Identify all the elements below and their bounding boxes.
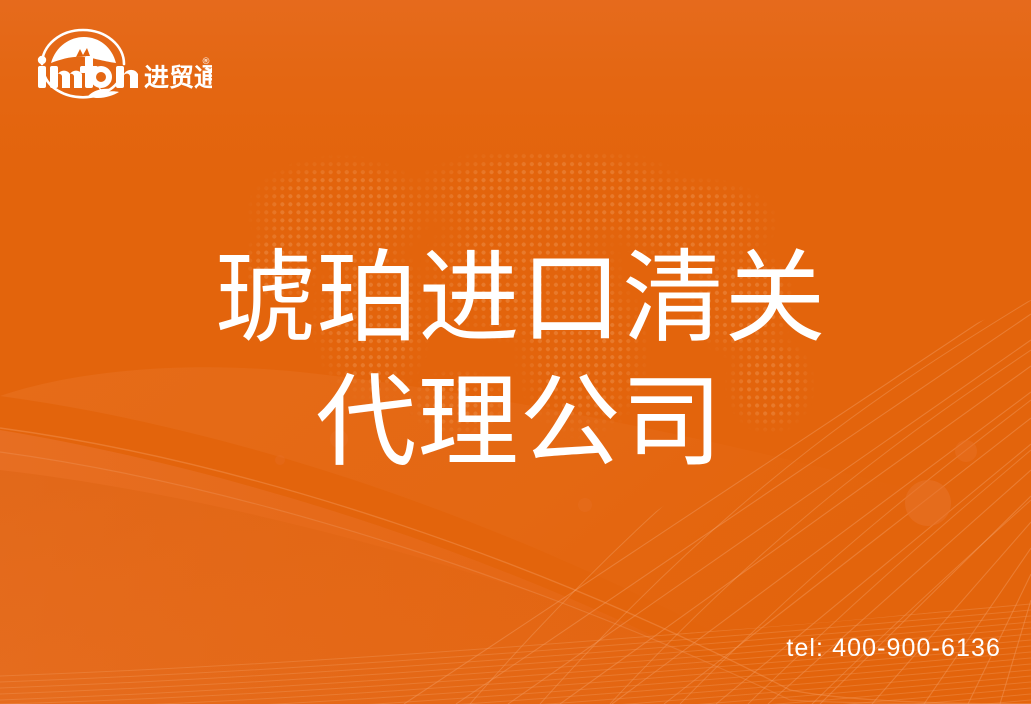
- title-line-2: 代理公司: [0, 360, 1031, 484]
- logo-chinese-text: 进贸通: [144, 63, 212, 92]
- trademark-symbol: ®: [202, 57, 211, 67]
- page-title: 琥珀进口清关 代理公司: [0, 236, 1031, 484]
- company-logo[interactable]: 进贸通 ®: [36, 28, 212, 100]
- logo-wordmark: 进贸通 ®: [36, 28, 212, 100]
- title-line-1: 琥珀进口清关: [0, 236, 1031, 360]
- bokeh-circle: [578, 498, 592, 512]
- promo-banner: 进贸通 ® 琥珀进口清关 代理公司 tel: 400-900-6136: [0, 0, 1031, 704]
- contact-phone[interactable]: tel: 400-900-6136: [786, 634, 1001, 663]
- bokeh-circle: [905, 480, 951, 526]
